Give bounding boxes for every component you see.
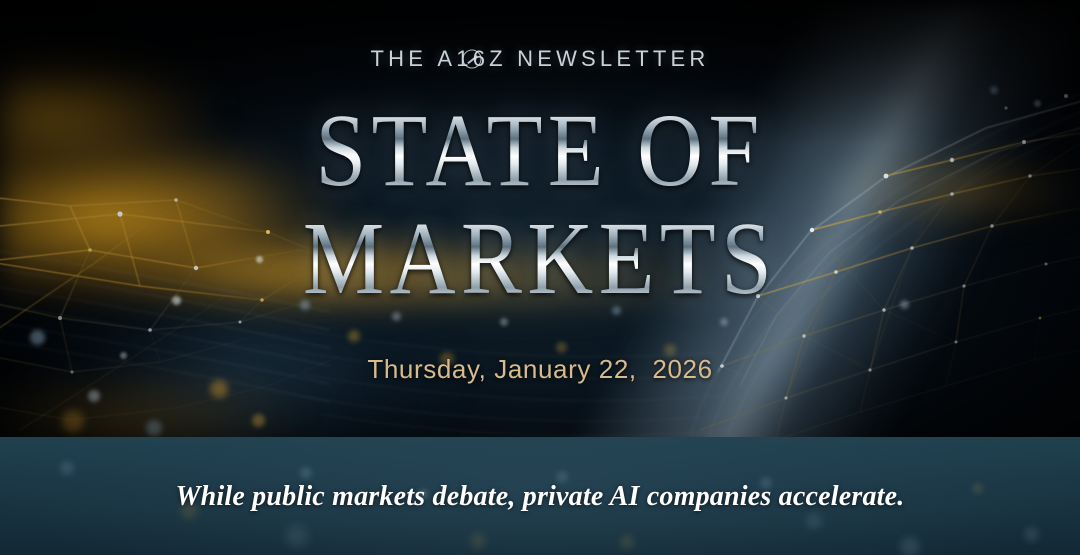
tagline-text: While public markets debate, private AI … bbox=[0, 481, 1080, 513]
newsletter-kicker: THE A16Z NEWSLETTER bbox=[0, 46, 1080, 72]
tagline-band: While public markets debate, private AI … bbox=[0, 437, 1080, 555]
title-line-1: STATE OF bbox=[65, 100, 1015, 202]
a16z-circle-logo-icon bbox=[463, 50, 482, 69]
title-line-2: MARKETS bbox=[65, 208, 1015, 310]
hero-content: THE A16Z NEWSLETTER STATE OF MARKETS Thu… bbox=[0, 0, 1080, 555]
newsletter-hero-banner: THE A16Z NEWSLETTER STATE OF MARKETS Thu… bbox=[0, 0, 1080, 555]
issue-date: Thursday, January 22, 2026 bbox=[0, 354, 1080, 385]
kicker-suffix: NEWSLETTER bbox=[507, 46, 710, 71]
kicker-prefix: THE bbox=[371, 46, 438, 71]
brand-wordmark: A16Z bbox=[437, 46, 506, 72]
page-title: STATE OF MARKETS bbox=[0, 100, 1080, 310]
